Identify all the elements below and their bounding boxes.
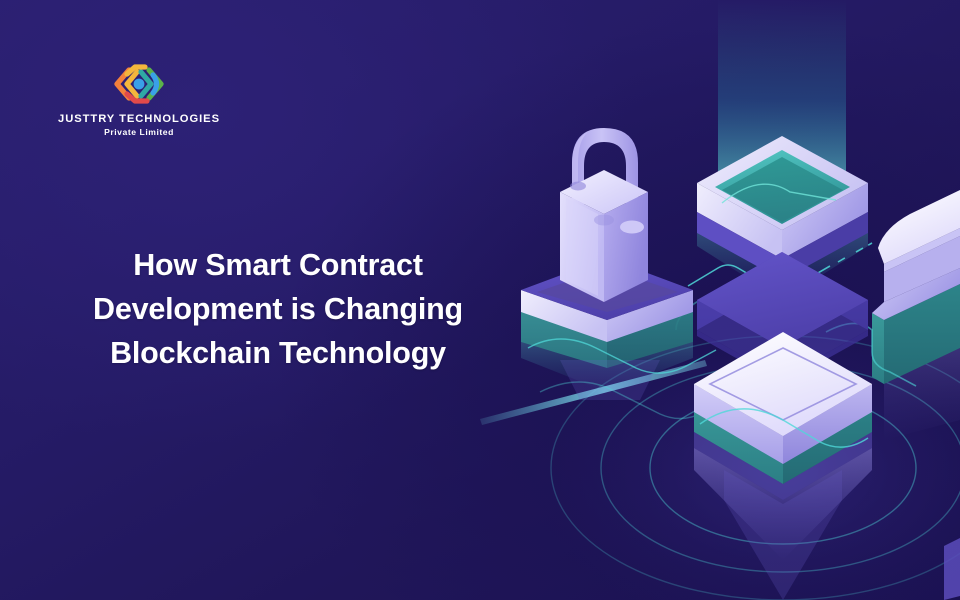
right-edge-block xyxy=(872,190,960,440)
logo-mark-icon xyxy=(54,58,224,110)
page-title: How Smart Contract Development is Changi… xyxy=(0,243,556,375)
headline-line-2: Development is Changing xyxy=(0,287,556,331)
logo-company-name: JUSTTRY TECHNOLOGIES xyxy=(54,113,224,125)
logo[interactable]: JUSTTRY TECHNOLOGIES Private Limited xyxy=(54,58,224,137)
corner-block-fragment xyxy=(944,538,960,600)
logo-company-suffix: Private Limited xyxy=(54,127,224,137)
headline-line-1: How Smart Contract xyxy=(0,243,556,287)
banner-hero: JUSTTRY TECHNOLOGIES Private Limited How… xyxy=(0,0,960,600)
headline-line-3: Blockchain Technology xyxy=(0,331,556,375)
padlock xyxy=(560,128,648,302)
